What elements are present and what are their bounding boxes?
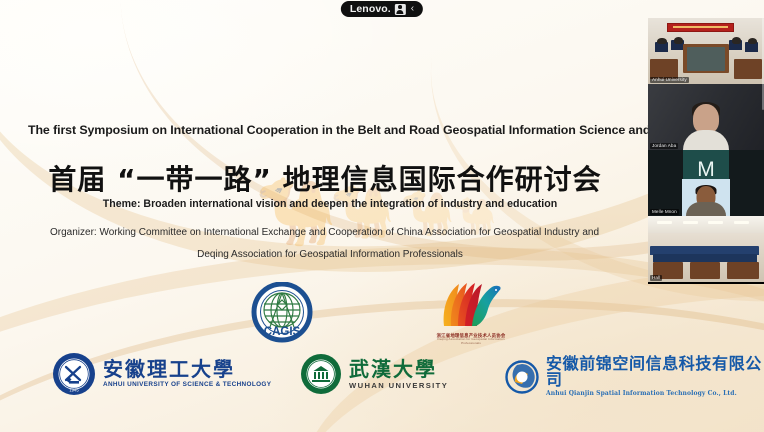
ceiling-light — [657, 221, 672, 224]
participant-avatar-tile[interactable]: M Melle Mnon — [648, 150, 764, 216]
participant-video — [648, 84, 764, 150]
cagis-logo: CAGIS — [248, 282, 316, 344]
lenovo-camera-pill[interactable]: Lenovo. ‹ — [341, 1, 423, 17]
ceiling-light — [683, 221, 698, 224]
anhui-qianjin-logo: 安徽前锦空间信息科技有限公司 Anhui Qianjin Spatial Inf… — [505, 356, 764, 397]
conference-room-tile-2[interactable]: Hall — [648, 216, 764, 282]
auditorium-video — [648, 216, 764, 282]
phoenix-logo-english-text: Deqing Association for Geospatial Inform… — [428, 337, 514, 345]
aust-name-chinese: 安徽理工大學 — [103, 359, 271, 379]
side-desk — [650, 59, 678, 79]
table-cloth — [687, 47, 724, 71]
participant-name-label: Melle Mnon — [650, 209, 679, 215]
anhui-university-of-science-and-technology-logo: 1945 安徽理工大學 ANHUI UNIVERSITY OF SCIENCE … — [52, 352, 271, 396]
whu-name-english: WUHAN UNIVERSITY — [349, 382, 448, 390]
lenovo-brand-label: Lenovo. — [350, 4, 391, 15]
aust-name-english: ANHUI UNIVERSITY OF SCIENCE & TECHNOLOGY — [103, 382, 271, 388]
avatar-initial: M — [697, 159, 715, 180]
participant-video-strip[interactable]: Anhui University Jordan Aba M Melle Mnon — [648, 18, 764, 284]
chevron-left-icon[interactable]: ‹ — [411, 4, 414, 14]
participant-name-label: Anhui University — [650, 77, 689, 83]
ceiling-light — [708, 221, 723, 224]
participant-name-label: Jordan Aba — [650, 143, 678, 149]
attendee — [748, 38, 757, 45]
attendee — [674, 37, 683, 44]
slide-title-english: The first Symposium on International Coo… — [28, 123, 728, 137]
seating-row — [653, 254, 757, 262]
red-banner — [667, 23, 734, 32]
attendee — [657, 38, 666, 45]
aust-seal-icon: 1945 — [52, 352, 96, 396]
qianjin-name-chinese: 安徽前锦空间信息科技有限公司 — [546, 356, 764, 388]
deqing-association-logo: 浙江省地理信息产业技术人员协会 Deqing Association for G… — [428, 278, 514, 346]
laptop-notch-bar: Lenovo. ‹ — [0, 0, 764, 18]
slide-organizer-line-1: Organizer: Working Committee on Internat… — [50, 227, 750, 238]
torso — [686, 202, 726, 216]
qianjin-name-english: Anhui Qianjin Spatial Information Techno… — [546, 391, 764, 397]
phoenix-bird-icon — [428, 278, 514, 334]
slide-organizer-line-2: Deqing Association for Geospatial Inform… — [0, 249, 660, 260]
sponsor-logo-row: 1945 安徽理工大學 ANHUI UNIVERSITY OF SCIENCE … — [0, 352, 764, 404]
attendee — [732, 37, 741, 44]
conference-room-tile[interactable]: Anhui University — [648, 18, 764, 84]
qianjin-globe-icon — [505, 360, 539, 394]
shared-screen-view: 🐪 🐪 🐪 🐪 The first Symposium on Internati… — [0, 0, 764, 432]
side-desk — [734, 59, 762, 79]
participant-name-label: Hall — [650, 275, 662, 281]
wuhan-university-logo: 武漢大學 WUHAN UNIVERSITY — [300, 353, 448, 395]
ceiling-light — [734, 221, 749, 224]
whu-name-chinese: 武漢大學 — [349, 359, 448, 379]
participant-photo — [682, 179, 730, 216]
slide-theme: Theme: Broaden international vision and … — [0, 198, 660, 210]
slide-title-chinese: 首届 “一带一路” 地理信息国际合作研讨会 — [0, 158, 650, 198]
participant-portrait-tile[interactable]: Jordan Aba — [648, 84, 764, 150]
webcam-icon[interactable] — [395, 4, 406, 15]
front-desk — [727, 262, 759, 279]
cagis-acronym: CAGIS — [264, 326, 301, 338]
ceiling — [648, 216, 764, 233]
front-desk — [690, 262, 720, 279]
aust-seal-year: 1945 — [69, 388, 79, 393]
whu-seal-icon — [300, 353, 342, 395]
conference-room-video — [648, 18, 764, 84]
